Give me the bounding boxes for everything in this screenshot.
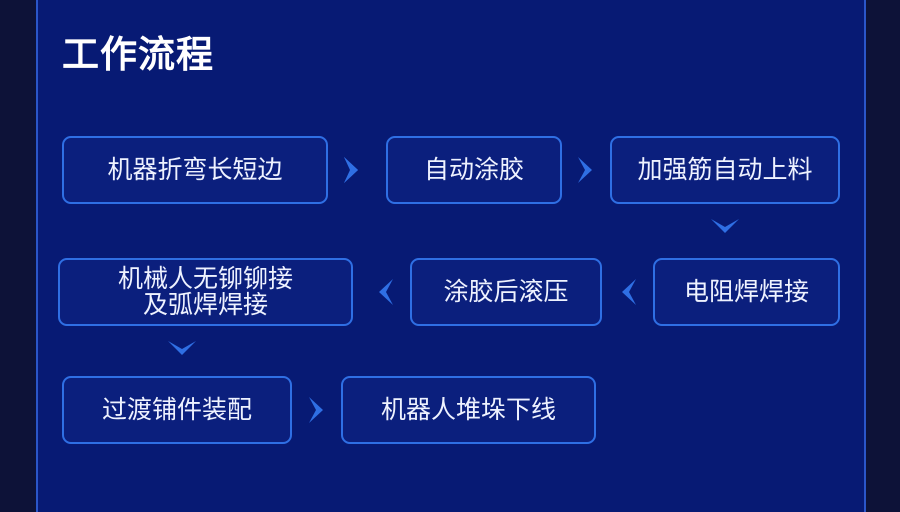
content-panel: 工作流程 机器折弯长短边 自动涂胶 加强筋自动上料 机械人无铆铆接 及弧焊焊接 <box>38 0 864 512</box>
right-divider-line <box>864 0 866 512</box>
page-title: 工作流程 <box>62 36 214 73</box>
right-edge-strip <box>866 0 900 512</box>
chevron-left-icon <box>368 275 402 309</box>
chevron-right-icon <box>300 393 334 427</box>
flow-node-resistance-welding[interactable]: 电阻焊焊接 <box>653 258 840 326</box>
chevron-down-icon <box>165 334 199 364</box>
chevron-right-icon <box>335 153 369 187</box>
flow-node-robot-palletizing[interactable]: 机器人堆垛下线 <box>341 376 596 444</box>
chevron-down-icon <box>708 212 742 242</box>
flow-node-robot-riveting-arc-welding[interactable]: 机械人无铆铆接 及弧焊焊接 <box>58 258 353 326</box>
workflow-infographic: 工作流程 机器折弯长短边 自动涂胶 加强筋自动上料 机械人无铆铆接 及弧焊焊接 <box>0 0 900 512</box>
chevron-right-icon <box>569 153 603 187</box>
flow-node-auto-gluing[interactable]: 自动涂胶 <box>386 136 562 204</box>
flow-node-reinforcement-feeding[interactable]: 加强筋自动上料 <box>610 136 840 204</box>
flow-node-transition-assembly[interactable]: 过渡铺件装配 <box>62 376 292 444</box>
left-edge-strip <box>0 0 36 512</box>
flow-node-machine-bending[interactable]: 机器折弯长短边 <box>62 136 328 204</box>
flow-node-post-glue-rolling[interactable]: 涂胶后滚压 <box>410 258 602 326</box>
chevron-left-icon <box>611 275 645 309</box>
